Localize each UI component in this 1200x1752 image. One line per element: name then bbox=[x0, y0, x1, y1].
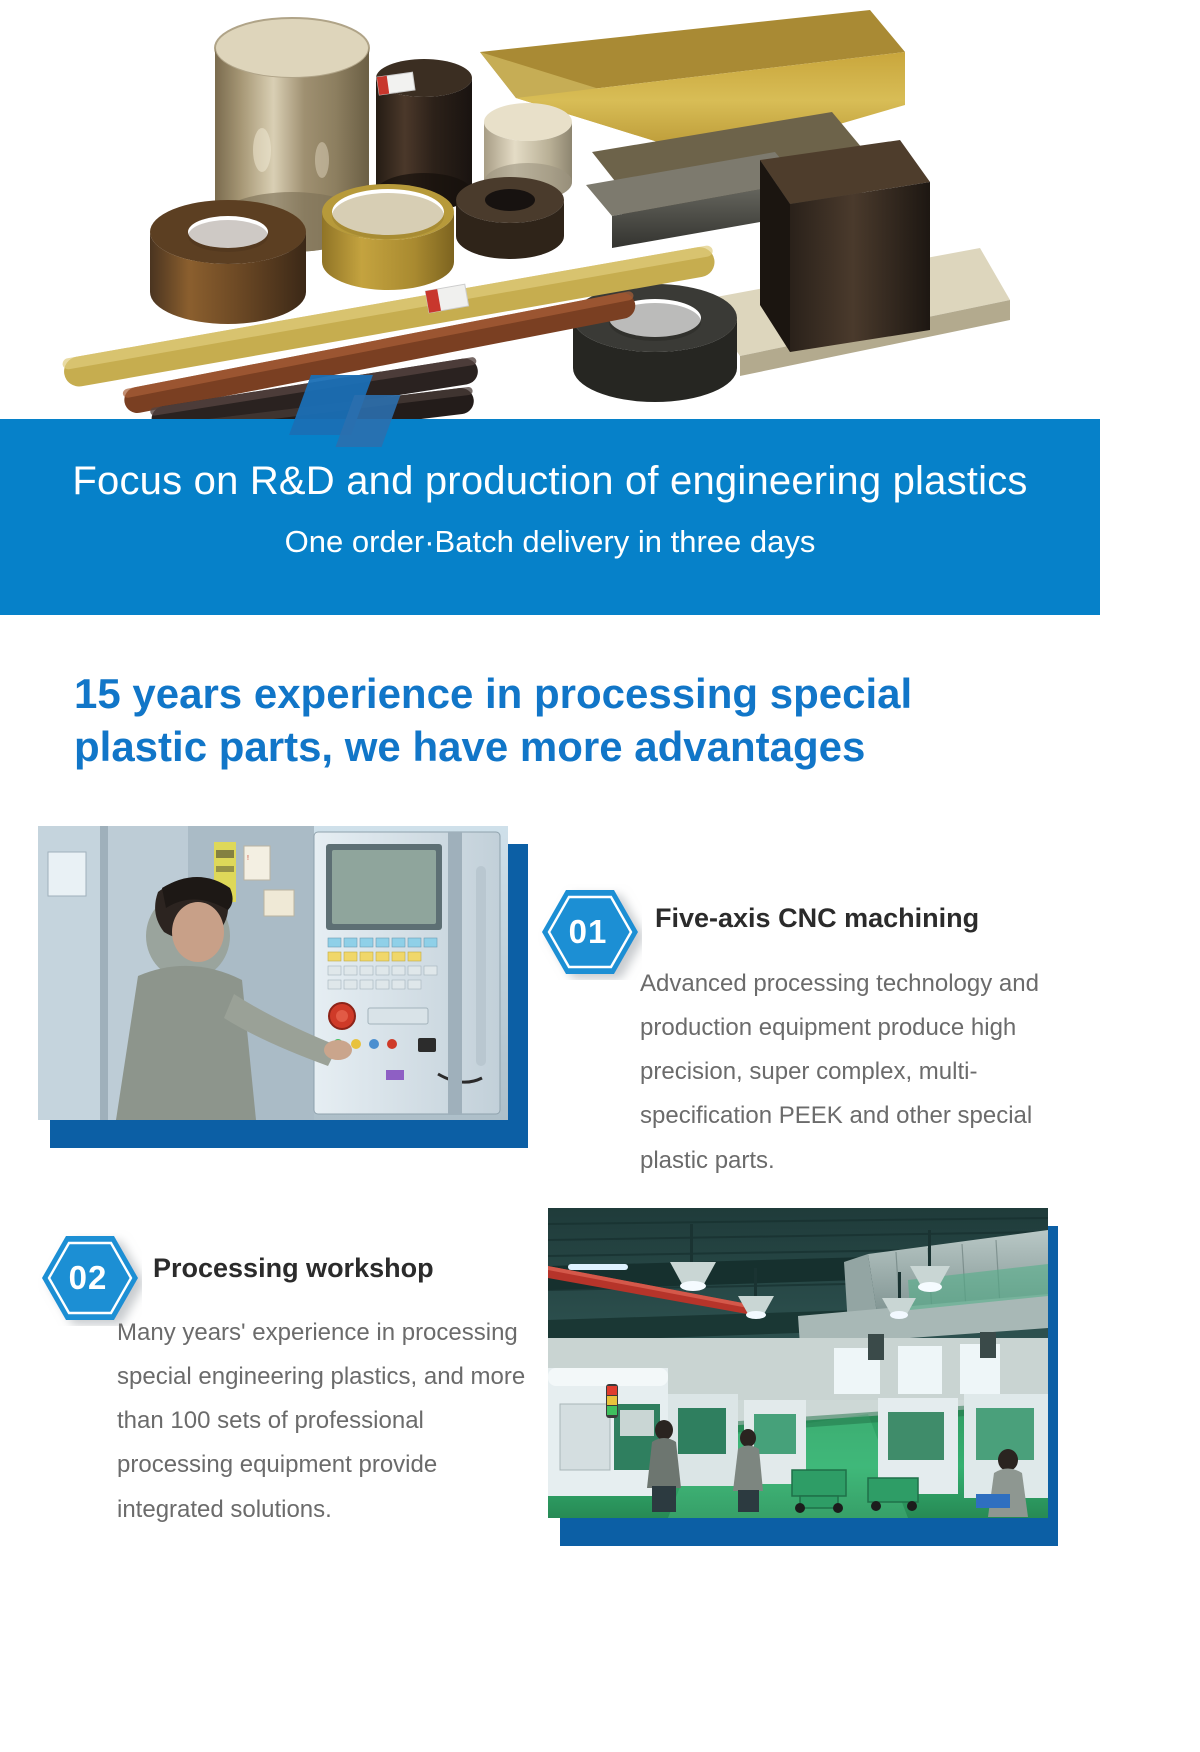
section-heading-line-1: 15 years experience in processing specia… bbox=[74, 668, 1074, 721]
feature-card-01-title: Five-axis CNC machining bbox=[655, 903, 979, 934]
cnc-machining-photo-frame: ! bbox=[38, 826, 528, 1148]
banner-headline: Focus on R&D and production of engineeri… bbox=[0, 459, 1100, 504]
hexagon-badge-01-number: 01 bbox=[538, 884, 642, 980]
feature-card-01-body: Advanced processing technology and produ… bbox=[640, 962, 1072, 1183]
svg-text:!: ! bbox=[247, 855, 249, 862]
banner-subheadline: One order·Batch delivery in three days bbox=[0, 524, 1100, 560]
feature-card-02-title: Processing workshop bbox=[153, 1253, 434, 1284]
section-heading: 15 years experience in processing specia… bbox=[74, 668, 1074, 773]
workshop-photo-frame bbox=[548, 1208, 1058, 1546]
section-heading-line-2: plastic parts, we have more advantages bbox=[74, 721, 1074, 774]
cnc-machining-photo: ! bbox=[38, 826, 508, 1120]
promo-page: Focus on R&D and production of engineeri… bbox=[0, 0, 1200, 1752]
hexagon-badge-01: 01 bbox=[538, 884, 642, 980]
hero-product-photo bbox=[0, 0, 1200, 470]
workshop-photo bbox=[548, 1208, 1048, 1518]
feature-card-02-body: Many years' experience in processing spe… bbox=[117, 1311, 529, 1532]
headline-banner: Focus on R&D and production of engineeri… bbox=[0, 419, 1100, 615]
hero-photo-canvas bbox=[0, 0, 1200, 470]
